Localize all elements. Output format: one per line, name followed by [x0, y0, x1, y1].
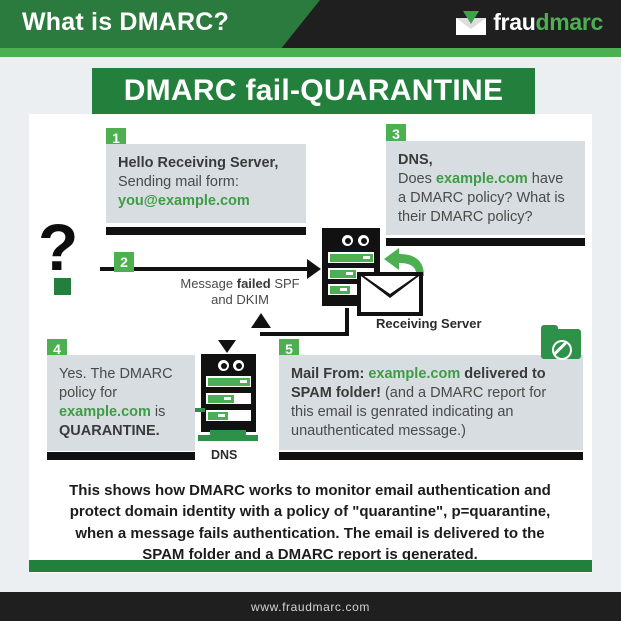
callout-5-line-2-rest: (and a DMARC report for	[381, 385, 546, 401]
callout-step-3-text: DNS, Does example.com have a DMARC polic…	[386, 141, 585, 236]
summary-line-3: when a message fails authentication. The…	[55, 523, 565, 544]
folder-body-shape	[541, 329, 581, 359]
summary-line-2: protect domain identity with a policy of…	[55, 501, 565, 522]
question-mark-dot	[54, 278, 71, 295]
card-bottom-accent-bar	[29, 560, 592, 572]
callout-4-line-1: Yes. The DMARC	[59, 365, 183, 384]
callout-step-4: Yes. The DMARC policy for example.com is…	[47, 355, 195, 451]
callout-4-line-4: QUARANTINE.	[59, 422, 183, 441]
dns-slot-1	[206, 376, 251, 387]
callout-5-line-1-pre: Mail From:	[291, 366, 368, 382]
callout-4-line-2: policy for	[59, 384, 183, 403]
footer-url: www.fraudmarc.com	[251, 600, 370, 614]
dns-stand-foot-shape	[198, 435, 258, 441]
arrow-send-label-line-1: Message failed SPF	[150, 276, 330, 292]
callout-4-line-3: example.com is	[59, 403, 183, 422]
arrow-send-label-line-2: and DKIM	[150, 292, 330, 308]
fraudmarc-logo: fraudmarc	[456, 9, 603, 36]
footer-bar: www.fraudmarc.com	[0, 592, 621, 621]
receiving-server-label: Receiving Server	[376, 316, 482, 331]
server-slot-1	[328, 252, 374, 263]
callout-5-underbar	[279, 452, 583, 460]
dns-eye-left-icon	[218, 360, 229, 371]
callout-5-line-1: Mail From: example.com delivered to	[291, 365, 571, 384]
callout-step-5-text: Mail From: example.com delivered to SPAM…	[279, 355, 583, 450]
arrow-send-label-post: SPF	[271, 276, 300, 291]
callout-1-line-2: Sending mail form:	[118, 173, 294, 192]
step-badge-2: 2	[114, 252, 134, 272]
callout-3-line-2-pre: Does	[398, 171, 436, 187]
callout-step-3: DNS, Does example.com have a DMARC polic…	[386, 141, 585, 235]
callout-3-line-1: DNS,	[398, 151, 573, 170]
callout-step-4-text: Yes. The DMARC policy for example.com is…	[47, 355, 195, 450]
callout-3-line-2-post: have	[528, 171, 563, 187]
callout-4-domain: example.com	[59, 404, 151, 420]
server-slot-2-fill	[330, 270, 357, 278]
sender-question-mark: ?	[38, 228, 94, 290]
callout-5-domain: example.com	[368, 366, 460, 382]
callout-5-line-2: SPAM folder! (and a DMARC report for	[291, 384, 571, 403]
callout-1-line-1: Hello Receiving Server,	[118, 154, 294, 173]
question-mark-icon: ?	[38, 214, 78, 280]
arrow-down-icon	[463, 11, 479, 24]
dns-eye-right-icon	[233, 360, 244, 371]
prohibition-icon	[552, 340, 572, 360]
dns-slot-2	[206, 393, 251, 404]
dns-chassis-shape	[201, 354, 256, 432]
callout-5-line-3: this email is genrated indicating an	[291, 403, 571, 422]
callout-3-line-3: a DMARC policy? What is	[398, 189, 573, 208]
callout-1-underbar	[106, 227, 306, 235]
server-slot-3-fill	[330, 286, 351, 294]
callout-4-line-3-post: is	[151, 404, 166, 420]
header-accent-underbar	[0, 48, 621, 57]
server-eye-right-icon	[358, 235, 369, 246]
callout-3-line-4: their DMARC policy?	[398, 208, 573, 227]
dns-slot-3	[206, 410, 251, 421]
callout-3-domain: example.com	[436, 171, 528, 187]
callout-step-1: Hello Receiving Server, Sending mail for…	[106, 144, 306, 223]
callout-3-line-2: Does example.com have	[398, 170, 573, 189]
callout-5-line-1-post: delivered to	[460, 366, 545, 382]
server-eye-left-icon	[342, 235, 353, 246]
dns-slot-2-fill	[208, 395, 234, 403]
summary-line-1: This shows how DMARC works to monitor em…	[55, 480, 565, 501]
infographic-page: What is DMARC? fraudmarc DMARC fail-QUAR…	[0, 0, 621, 621]
callout-5-spam-folder: SPAM folder!	[291, 385, 381, 401]
arrow-query-head-icon	[251, 313, 271, 328]
envelope-flap-inner-shape	[364, 276, 416, 294]
arrow-dns-response-head-icon	[218, 340, 236, 353]
email-envelope-icon	[357, 272, 423, 316]
banner-title-text: DMARC fail-QUARANTINE	[124, 74, 504, 108]
summary-text: This shows how DMARC works to monitor em…	[55, 480, 565, 565]
arrow-send-label-bold: failed	[237, 276, 271, 291]
dns-label: DNS	[211, 448, 237, 462]
dns-slot-1-fill	[208, 378, 250, 386]
callout-step-1-text: Hello Receiving Server, Sending mail for…	[106, 144, 306, 219]
callout-1-line-3: you@example.com	[118, 192, 294, 211]
server-slot-1-fill	[330, 254, 373, 262]
dns-server-icon	[201, 354, 256, 432]
spam-folder-icon	[541, 325, 581, 359]
logo-text: fraudmarc	[493, 9, 603, 36]
banner-title: DMARC fail-QUARANTINE	[92, 68, 535, 114]
callout-4-underbar	[47, 452, 195, 460]
logo-text-frau: frau	[493, 9, 535, 35]
arrow-send-label: Message failed SPF and DKIM	[150, 276, 330, 309]
callout-step-5: Mail From: example.com delivered to SPAM…	[279, 355, 583, 450]
callout-5-line-4: unauthenticated message.)	[291, 422, 571, 441]
header-bar: What is DMARC? fraudmarc	[0, 0, 621, 48]
arrow-query-horizontal	[260, 332, 349, 336]
arrow-send-label-pre: Message	[180, 276, 236, 291]
dns-slot-3-fill	[208, 412, 228, 420]
envelope-download-icon	[456, 11, 486, 35]
page-title: What is DMARC?	[22, 8, 229, 37]
logo-text-dmarc: dmarc	[535, 9, 603, 35]
callout-3-underbar	[386, 238, 585, 246]
